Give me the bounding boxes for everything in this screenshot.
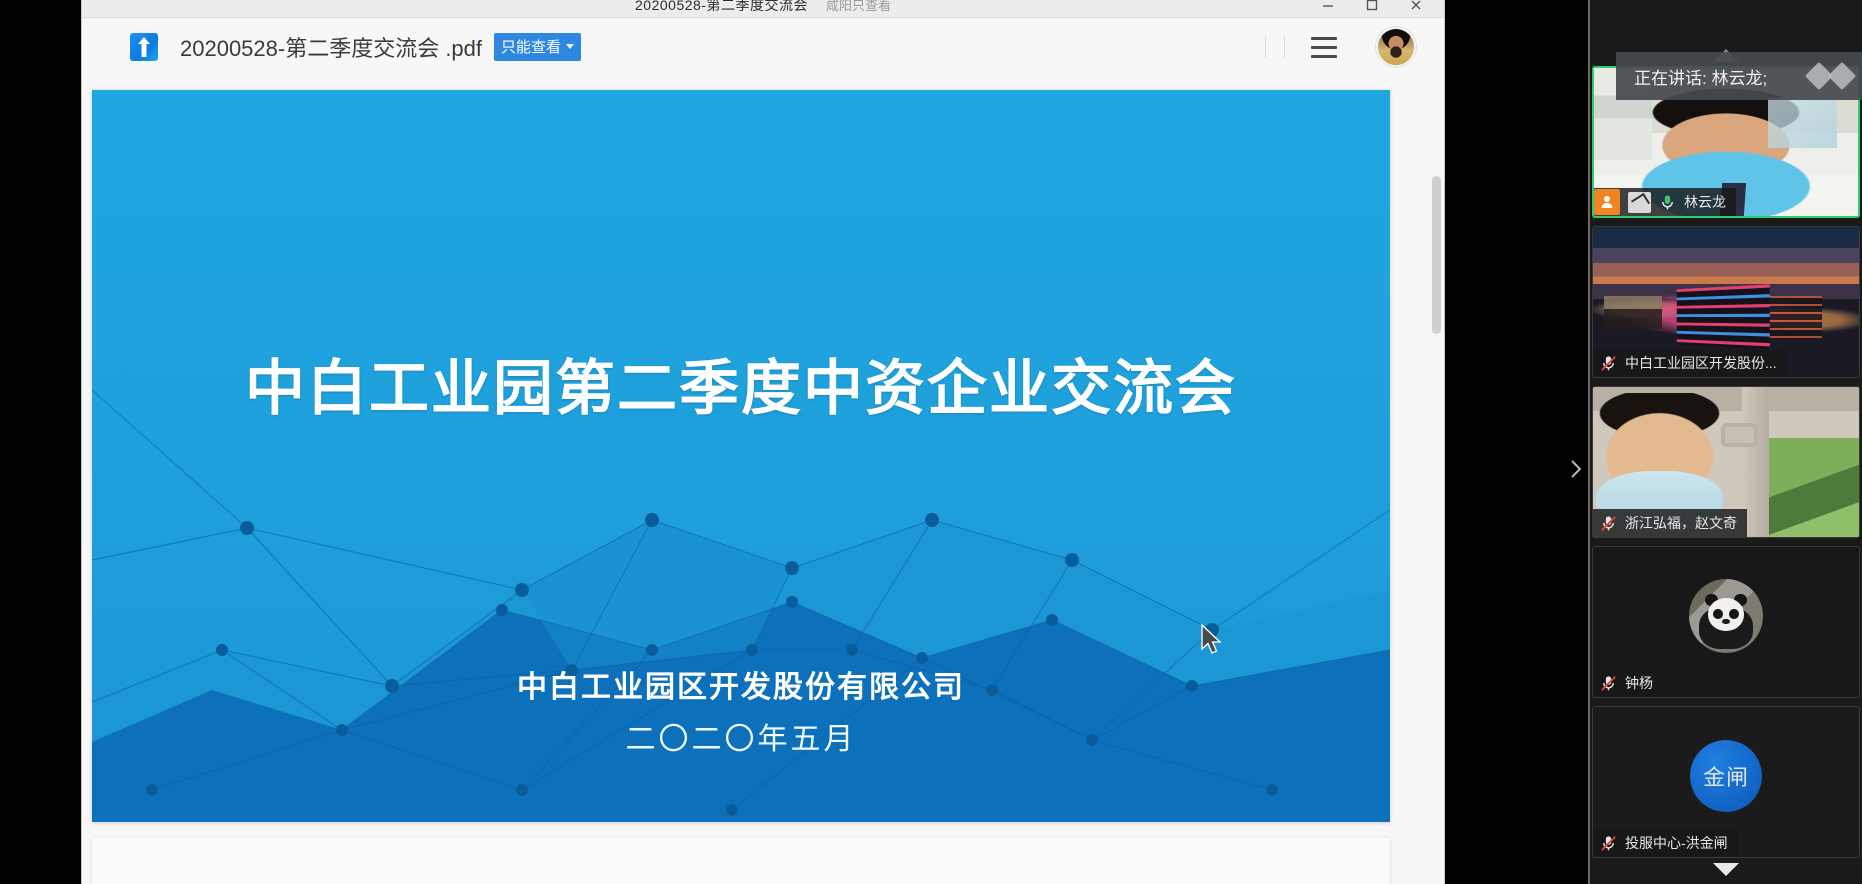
document-window: 20200528-第二季度交流会 咸阳只查看 20200528-第二季度交流会: [82, 0, 1444, 884]
microphone-muted-icon: [1599, 514, 1618, 533]
slide-subtitle-company: 中白工业园区开发股份有限公司: [92, 662, 1390, 706]
window-title-suffix: 咸阳只查看: [826, 0, 891, 14]
desktop-background-left: [0, 0, 82, 884]
microphone-muted-icon: [1599, 834, 1618, 853]
toolbar-right-group: [1256, 27, 1416, 67]
chevron-down-icon: [566, 44, 574, 49]
slide-page-2: [92, 838, 1390, 884]
mouse-cursor: [1200, 624, 1226, 658]
scroll-down-button[interactable]: [1590, 856, 1862, 882]
maximize-icon[interactable]: [1350, 0, 1394, 18]
screen-share-icon: [1628, 192, 1651, 213]
document-scrollbar-thumb[interactable]: [1432, 176, 1441, 334]
slide-background-graphic: [92, 90, 1390, 822]
window-title: 20200528-第二季度交流会: [635, 0, 808, 15]
host-icon: [1594, 189, 1620, 215]
slide-title: 中白工业园第二季度中资企业交流会: [92, 340, 1390, 427]
tile-name-label-1: 中白工业园区开发股份...: [1625, 353, 1777, 373]
hamburger-menu-icon[interactable]: [1304, 27, 1344, 67]
screen: 20200528-第二季度交流会 咸阳只查看 20200528-第二季度交流会: [0, 0, 1862, 884]
close-icon[interactable]: [1394, 0, 1438, 18]
slide-page-1: 中白工业园第二季度中资企业交流会 中白工业园区开发股份有限公司 二〇二〇年五月: [92, 90, 1390, 822]
tile-name-label-3: 钟杨: [1625, 673, 1653, 693]
minimize-icon[interactable]: [1306, 0, 1350, 18]
chevron-right-icon[interactable]: [1564, 452, 1588, 486]
tile-nameplate-3: 钟杨: [1593, 669, 1663, 697]
video-tile-3[interactable]: 钟杨: [1592, 546, 1860, 698]
document-canvas[interactable]: 中白工业园第二季度中资企业交流会 中白工业园区开发股份有限公司 二〇二〇年五月: [82, 76, 1444, 884]
triangle-down-icon: [1713, 863, 1739, 876]
tile-name-label-4: 投服中心-洪金闸: [1625, 833, 1728, 853]
avatar-image-3: [1689, 579, 1763, 653]
tile-nameplate-2: 浙江弘福，赵文奇: [1593, 509, 1747, 537]
window-titlebar[interactable]: 20200528-第二季度交流会 咸阳只查看: [82, 0, 1444, 18]
permission-badge[interactable]: 只能查看: [494, 33, 581, 61]
tile-name-label-0: 林云龙: [1684, 192, 1726, 212]
microphone-muted-icon: [1599, 674, 1618, 693]
toolbar-divider-2: [1284, 36, 1285, 58]
document-toolbar: 20200528-第二季度交流会 .pdf 只能查看: [82, 18, 1444, 76]
video-tile-1[interactable]: 中白工业园区开发股份...: [1592, 226, 1860, 378]
document-filename: 20200528-第二季度交流会 .pdf: [180, 31, 482, 63]
file-pdf-icon: [128, 30, 162, 64]
document-scrollbar[interactable]: [1432, 156, 1441, 884]
tile-nameplate-0: 林云龙: [1594, 188, 1736, 216]
window-controls: [1306, 0, 1438, 18]
user-avatar[interactable]: [1376, 27, 1416, 67]
microphone-on-icon: [1658, 193, 1677, 212]
tile-name-label-2: 浙江弘福，赵文奇: [1625, 513, 1737, 533]
active-speaker-banner: 正在讲话: 林云龙;: [1616, 52, 1862, 100]
tile-nameplate-4: 投服中心-洪金闸: [1593, 829, 1738, 857]
active-speaker-label: 正在讲话: 林云龙;: [1634, 64, 1767, 89]
slide-subtitle-date: 二〇二〇年五月: [92, 714, 1390, 758]
toolbar-divider-1: [1265, 36, 1266, 58]
video-tile-2[interactable]: 浙江弘福，赵文奇: [1592, 386, 1860, 538]
tile-nameplate-1: 中白工业园区开发股份...: [1593, 349, 1787, 377]
video-tile-4[interactable]: 金闸 投服中心-洪金闸: [1592, 706, 1860, 858]
video-participants-panel: 林云龙 中白工业园区开发股份...: [1590, 0, 1862, 884]
avatar-initials-4: 金闸: [1690, 740, 1762, 812]
banner-decoration-icon: [1809, 61, 1852, 86]
permission-badge-label: 只能查看: [501, 36, 561, 57]
microphone-muted-icon: [1599, 354, 1618, 373]
